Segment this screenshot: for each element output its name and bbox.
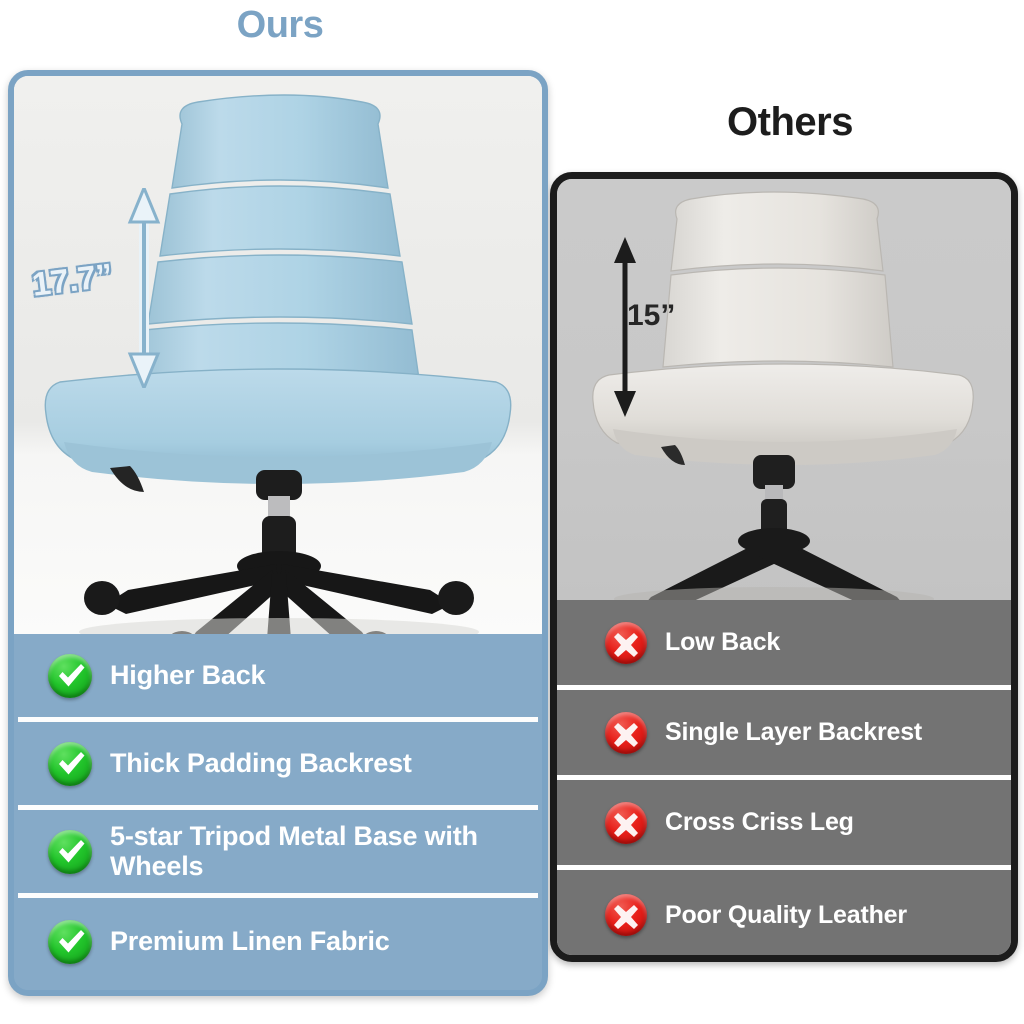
others-feature-list: Low Back Single Layer Backrest Cross Cri… [557, 600, 1011, 955]
ours-measure-arrow [124, 188, 164, 388]
red-x-icon [605, 894, 647, 936]
red-x-icon [605, 712, 647, 754]
green-check-icon [48, 654, 92, 698]
others-measure-label: 15” [627, 299, 675, 333]
list-item: Poor Quality Leather [557, 870, 1011, 960]
ours-chair-illustration [14, 76, 542, 634]
others-product-photo: 15” [557, 179, 1011, 600]
list-item-label: Thick Padding Backrest [110, 749, 412, 778]
red-x-icon [605, 802, 647, 844]
list-item-label: Low Back [665, 628, 780, 657]
red-x-icon [605, 622, 647, 664]
green-check-icon [48, 920, 92, 964]
list-item-label: Single Layer Backrest [665, 718, 922, 747]
list-item-label: Cross Criss Leg [665, 808, 854, 837]
ours-panel: 17.7” Higher Back Thick Padding Backrest [8, 70, 548, 996]
others-panel: 15” Low Back Single Layer Backrest [550, 172, 1018, 962]
list-item: 5-star Tripod Metal Base with Wheels [18, 810, 538, 898]
others-title: Others [556, 100, 1024, 145]
list-item: Higher Back [18, 634, 538, 722]
list-item-label: 5-star Tripod Metal Base with Wheels [110, 822, 538, 880]
list-item: Thick Padding Backrest [18, 722, 538, 810]
ours-feature-list: Higher Back Thick Padding Backrest 5-sta… [14, 634, 542, 990]
list-item: Premium Linen Fabric [18, 898, 538, 986]
double-arrow-vertical-icon [124, 188, 164, 388]
green-check-icon [48, 742, 92, 786]
list-item: Cross Criss Leg [557, 780, 1011, 870]
ours-title: Ours [0, 4, 560, 47]
ours-product-photo: 17.7” [14, 76, 542, 634]
list-item-label: Higher Back [110, 661, 265, 690]
green-check-icon [48, 830, 92, 874]
list-item-label: Premium Linen Fabric [110, 927, 390, 956]
list-item: Low Back [557, 600, 1011, 690]
list-item-label: Poor Quality Leather [665, 901, 907, 930]
list-item: Single Layer Backrest [557, 690, 1011, 780]
